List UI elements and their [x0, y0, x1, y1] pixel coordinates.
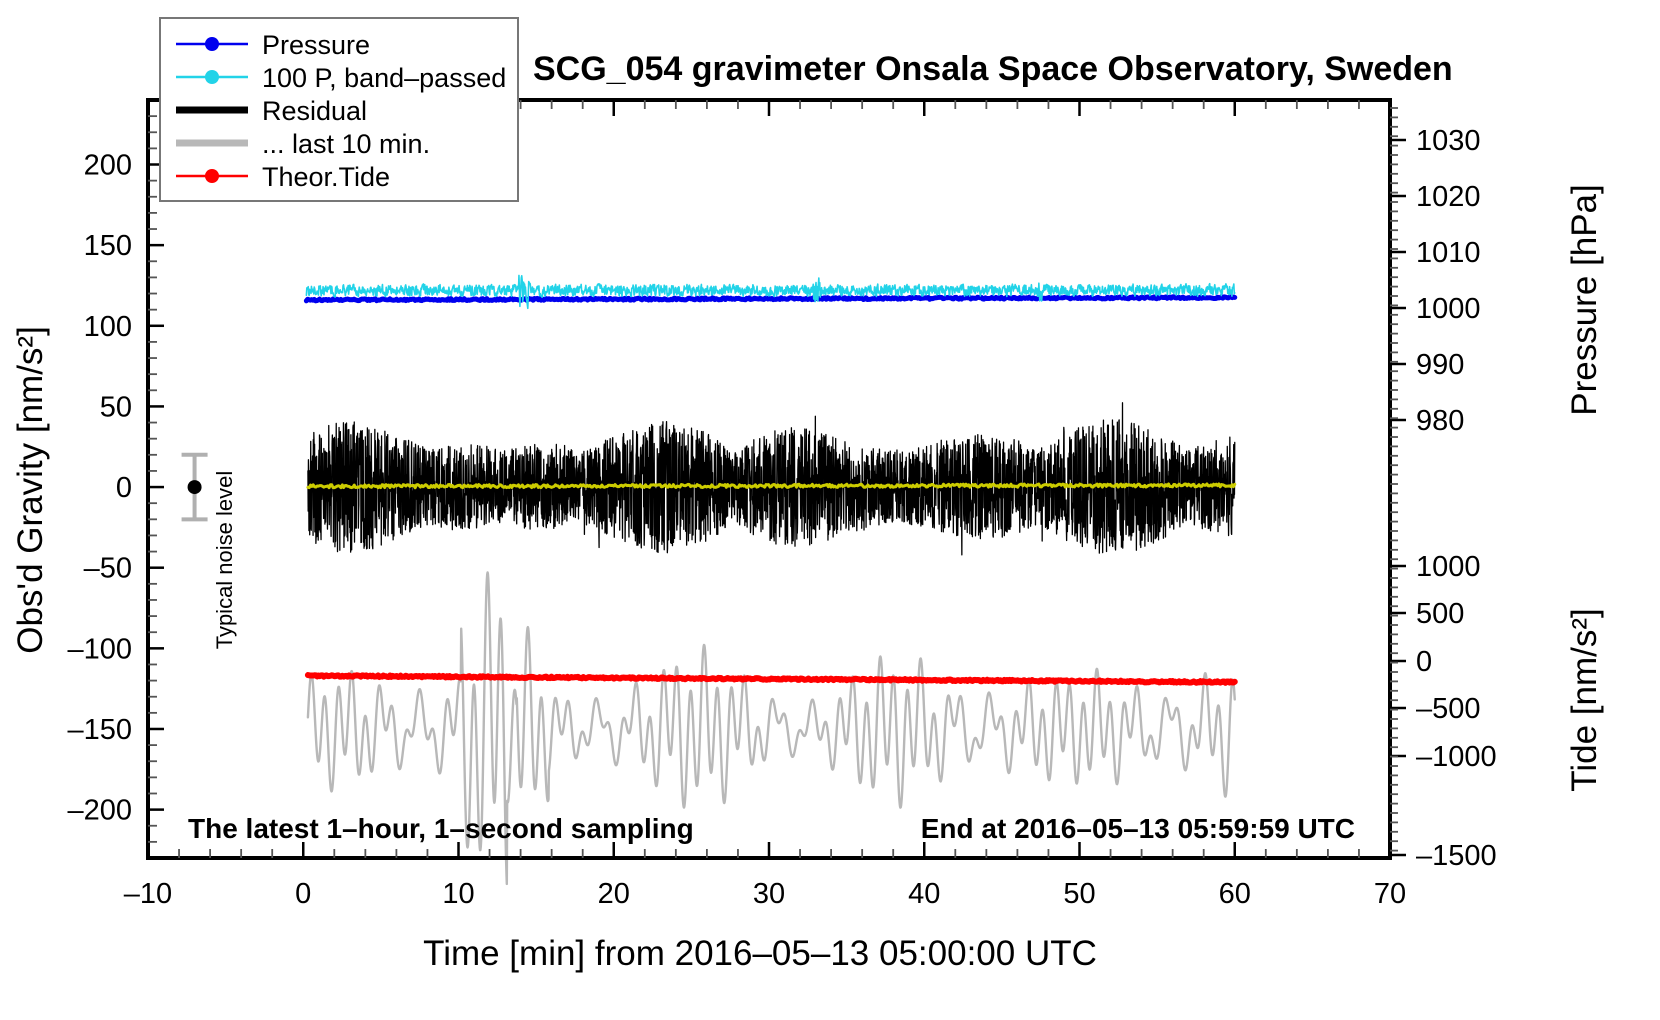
y-axis-title-left: Obs'd Gravity [nm/s²] [11, 326, 50, 654]
y-tick-label: –200 [67, 795, 132, 827]
x-tick-label: 40 [908, 878, 940, 910]
legend-marker-dot [205, 169, 219, 183]
y-tick-label: 50 [100, 391, 132, 423]
legend-label: Residual [262, 96, 367, 126]
y-tick-label: –100 [67, 633, 132, 665]
tide-tick-label: 1000 [1416, 551, 1481, 583]
noise-center-dot [188, 480, 202, 494]
legend: Pressure100 P, band–passedResidual... la… [160, 18, 518, 201]
x-tick-label: 0 [295, 878, 311, 910]
legend-label: 100 P, band–passed [262, 63, 506, 93]
y-tick-label: –150 [67, 714, 132, 746]
tide-tick-label: –1000 [1416, 741, 1497, 773]
gravimeter-plot-page: –10010203040506070200150100500–50–100–15… [0, 0, 1660, 1020]
legend-marker-dot [205, 37, 219, 51]
tide-tick-label: 500 [1416, 598, 1464, 630]
tide-tick-label: –1500 [1416, 840, 1497, 872]
x-tick-label: 70 [1374, 878, 1406, 910]
page-title: SCG_054 gravimeter Onsala Space Observat… [533, 50, 1453, 88]
x-tick-label: 60 [1219, 878, 1251, 910]
y-axis-title-tide: Tide [nm/s²] [1565, 608, 1604, 791]
x-tick-label: 50 [1063, 878, 1095, 910]
sampling-note: The latest 1–hour, 1–second sampling [188, 813, 694, 844]
x-tick-label: 10 [442, 878, 474, 910]
x-axis-title: Time [min] from 2016–05–13 05:00:00 UTC [423, 934, 1097, 973]
noise-level-label: Typical noise level [212, 471, 237, 650]
pressure-tick-label: 1020 [1416, 181, 1481, 213]
y-tick-label: 200 [84, 150, 132, 182]
legend-label: ... last 10 min. [262, 129, 430, 159]
pressure-tick-label: 1000 [1416, 293, 1481, 325]
y-tick-label: 150 [84, 230, 132, 262]
pressure-tick-label: 1030 [1416, 125, 1481, 157]
legend-label: Pressure [262, 30, 370, 60]
y-tick-label: 0 [116, 472, 132, 504]
pressure-tick-label: 990 [1416, 349, 1464, 381]
gravimeter-chart: –10010203040506070200150100500–50–100–15… [0, 0, 1660, 1020]
tide-tick-label: 0 [1416, 646, 1432, 678]
tide-tick-label: –500 [1416, 693, 1481, 725]
pressure-tick-label: 980 [1416, 405, 1464, 437]
legend-marker-dot [205, 70, 219, 84]
y-tick-label: 100 [84, 311, 132, 343]
x-tick-label: –10 [124, 878, 172, 910]
legend-label: Theor.Tide [262, 162, 390, 192]
x-tick-label: 30 [753, 878, 785, 910]
pressure-tick-label: 1010 [1416, 237, 1481, 269]
x-tick-label: 20 [598, 878, 630, 910]
y-axis-title-pressure: Pressure [hPa] [1565, 184, 1604, 416]
y-tick-label: –50 [84, 553, 132, 585]
end-time-note: End at 2016–05–13 05:59:59 UTC [921, 813, 1355, 844]
